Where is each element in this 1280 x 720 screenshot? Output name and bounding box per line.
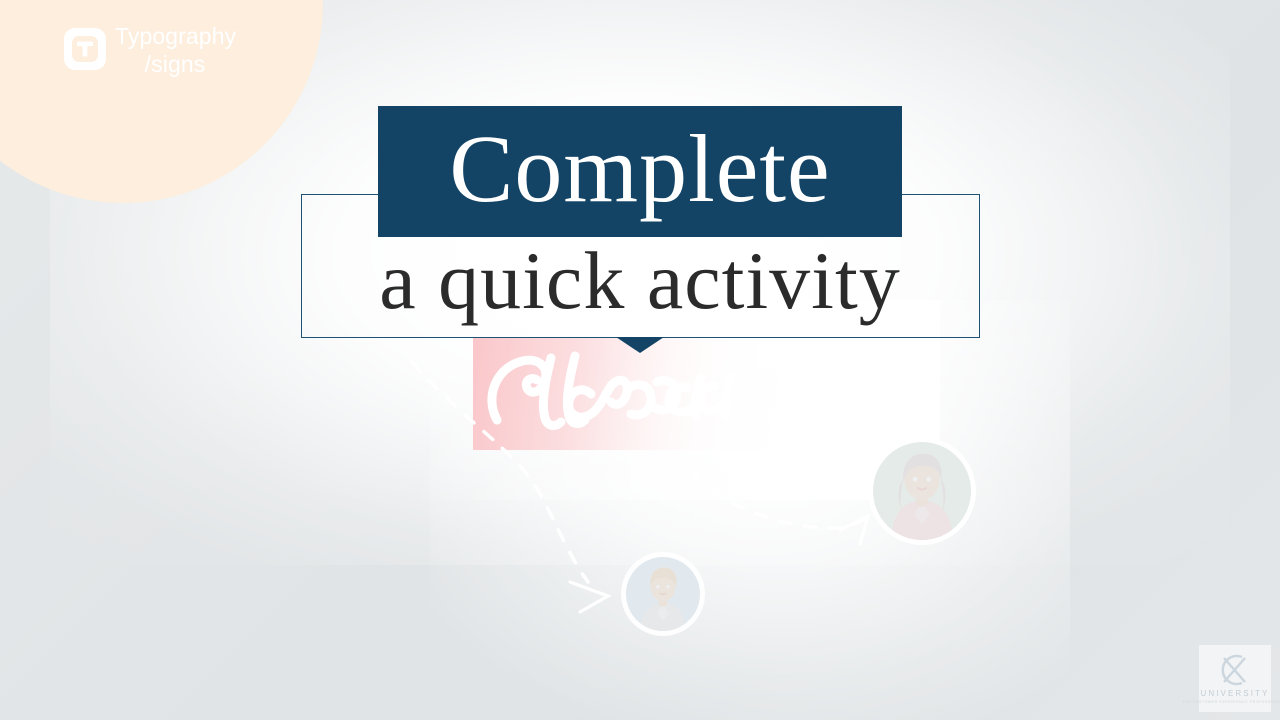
brand-label: Typography /signs [115,22,235,78]
brand-label-line1: Typography [115,22,235,50]
watermark-logo: UNIVERSITY THE CUSTOMER EXPERIENCE PROFE… [1199,645,1271,712]
page-subtitle: a quick activity [0,236,1280,326]
arrow-head-right [840,516,868,544]
triangle-down-icon [616,337,664,353]
typography-t-icon [64,28,106,70]
brand-badge: Typography /signs [64,22,235,78]
title-band: Complete [378,106,902,237]
arrow-path-right [692,474,866,528]
faded-brand-logo [473,338,811,450]
watermark-name: UNIVERSITY [1200,689,1269,698]
avatar-man [626,557,700,631]
avatar-woman [873,442,971,540]
brand-label-line2: /signs [115,50,235,78]
slide-canvas: Complete a quick activity Typography /si… [0,0,1280,720]
cx-monogram-icon [1215,653,1255,687]
arrow-head-left [570,582,608,612]
page-title: Complete [449,121,830,223]
watermark-tagline: THE CUSTOMER EXPERIENCE PROFESSIONALS [1182,700,1280,704]
